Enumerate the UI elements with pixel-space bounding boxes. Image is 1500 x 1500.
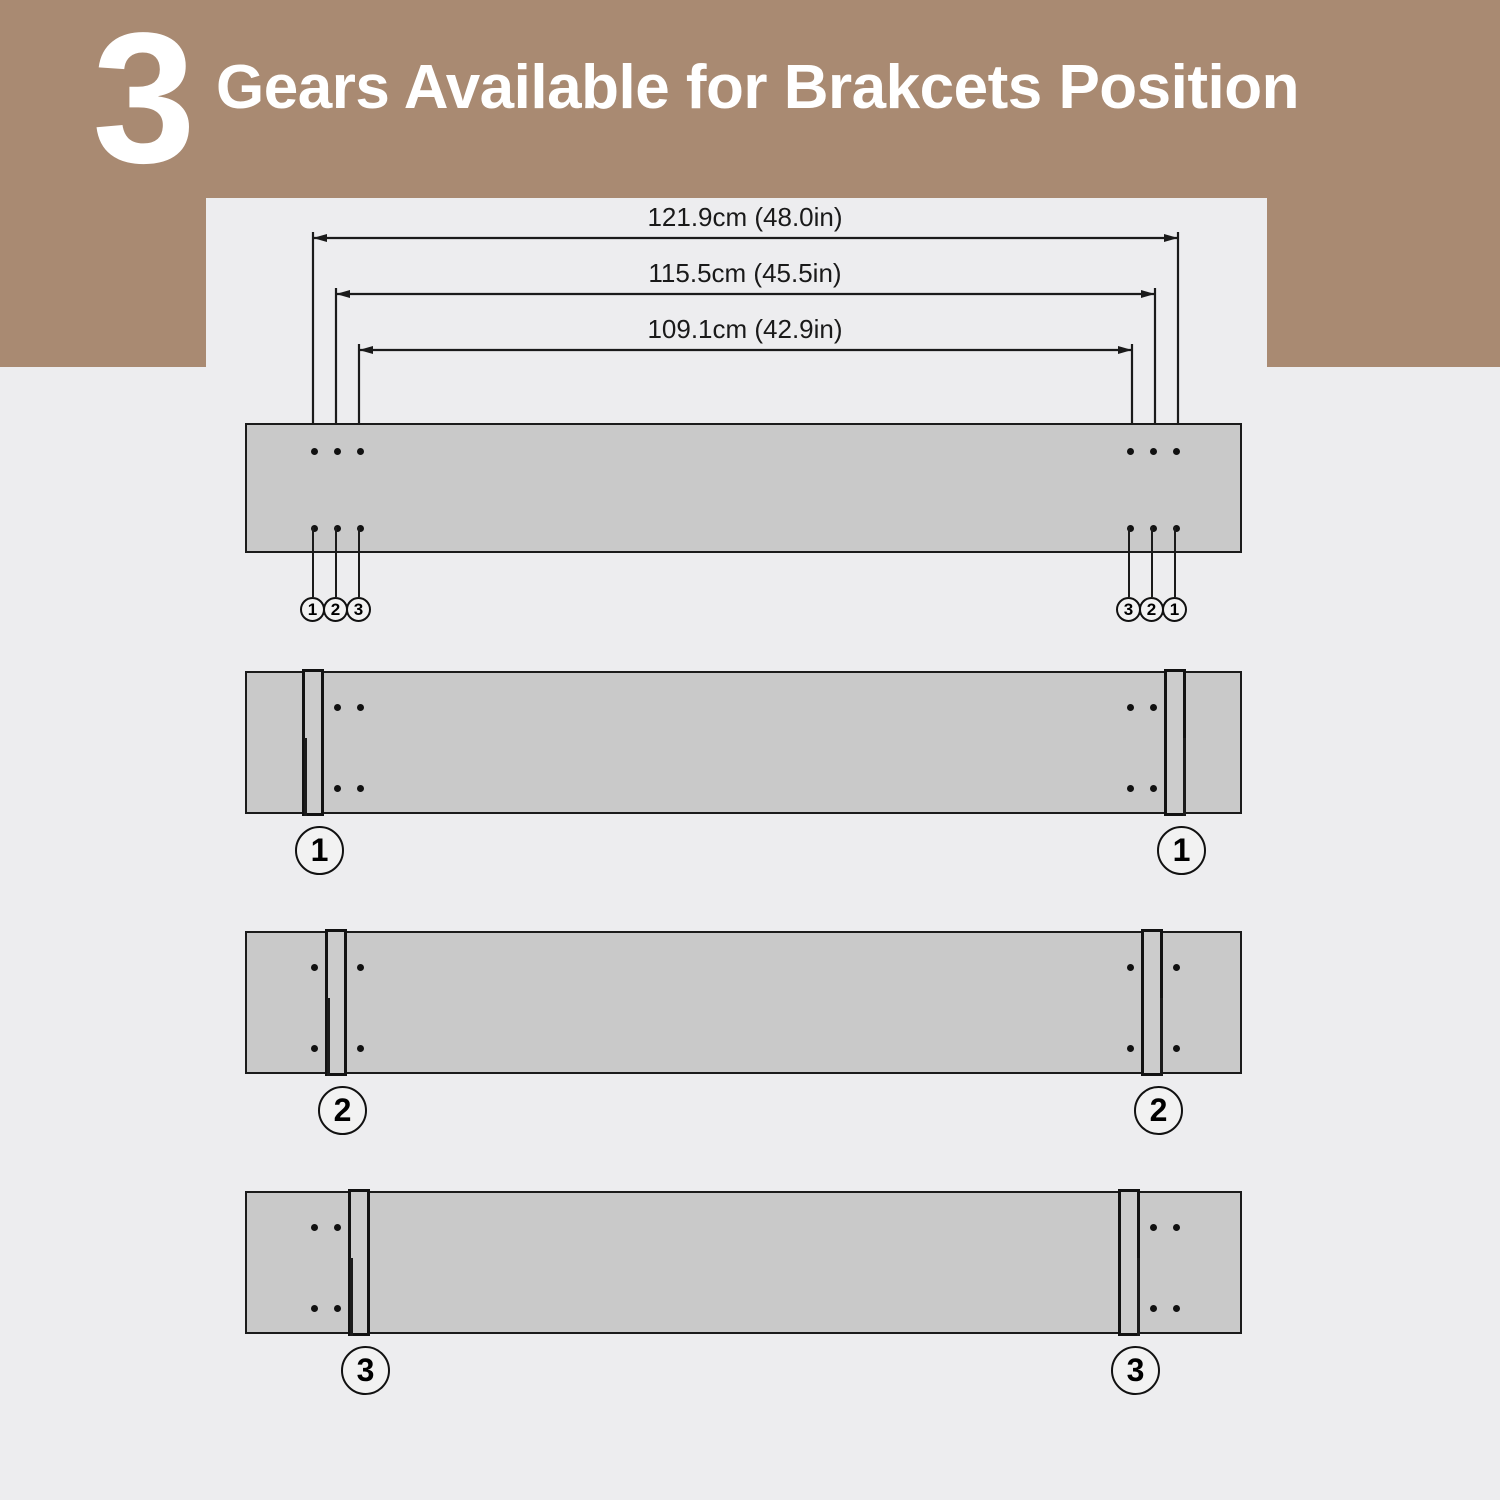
leader-left-1 <box>312 527 314 597</box>
leader-left-3 <box>358 527 360 597</box>
hole-bottom-right-2 <box>1150 1305 1157 1312</box>
dimension-label-3: 109.1cm (42.9in) <box>445 314 1045 345</box>
callout-gear-1-right: 1 <box>1157 826 1206 875</box>
hole-bottom-left-1 <box>311 1305 318 1312</box>
leader-right-1 <box>1174 527 1176 597</box>
hole-top-right-1 <box>1173 1224 1180 1231</box>
bracket-right-seam-gear-1 <box>1183 738 1186 816</box>
callout-left-1: 1 <box>300 597 325 622</box>
hole-bottom-left-3 <box>357 1045 364 1052</box>
hole-top-right-1 <box>1173 964 1180 971</box>
leader-right-3 <box>1128 527 1130 597</box>
hole-top-right-3 <box>1127 704 1134 711</box>
hole-bottom-left-2 <box>334 785 341 792</box>
hole-top-left-1 <box>311 964 318 971</box>
board-gear-3 <box>245 1191 1242 1334</box>
hole-bottom-right-1 <box>1173 1045 1180 1052</box>
dimension-label-1: 121.9cm (48.0in) <box>445 202 1045 233</box>
callout-left-3: 3 <box>346 597 371 622</box>
hole-top-right-3 <box>1127 448 1134 455</box>
hole-top-left-1 <box>311 1224 318 1231</box>
board-gear-1 <box>245 671 1242 814</box>
bracket-right-seam-gear-2 <box>1160 998 1163 1076</box>
callout-right-3: 3 <box>1116 597 1141 622</box>
hole-bottom-right-3 <box>1127 785 1134 792</box>
hole-bottom-right-2 <box>1150 785 1157 792</box>
bracket-left-seam-gear-3 <box>350 1258 353 1336</box>
bracket-right-seam-gear-3 <box>1137 1258 1140 1336</box>
callout-gear-2-left: 2 <box>318 1086 367 1135</box>
hole-top-right-1 <box>1173 448 1180 455</box>
hole-top-left-1 <box>311 448 318 455</box>
diagram-page: 3 Gears Available for Brakcets Position <box>0 0 1500 1500</box>
hole-top-right-2 <box>1150 448 1157 455</box>
hole-top-left-3 <box>357 964 364 971</box>
callout-gear-2-right: 2 <box>1134 1086 1183 1135</box>
hole-bottom-right-1 <box>1173 1305 1180 1312</box>
hole-bottom-left-3 <box>357 785 364 792</box>
leader-right-2 <box>1151 527 1153 597</box>
bracket-left-seam-gear-1 <box>304 738 307 816</box>
board-overview <box>245 423 1242 553</box>
hole-top-left-3 <box>357 704 364 711</box>
callout-left-2: 2 <box>323 597 348 622</box>
hole-bottom-left-2 <box>334 1305 341 1312</box>
callout-gear-3-right: 3 <box>1111 1346 1160 1395</box>
dimension-label-2: 115.5cm (45.5in) <box>445 258 1045 289</box>
callout-right-1: 1 <box>1162 597 1187 622</box>
hole-bottom-left-1 <box>311 1045 318 1052</box>
hole-top-left-2 <box>334 1224 341 1231</box>
hole-top-left-2 <box>334 448 341 455</box>
callout-gear-1-left: 1 <box>295 826 344 875</box>
hole-top-left-2 <box>334 704 341 711</box>
hole-top-right-3 <box>1127 964 1134 971</box>
hole-top-right-2 <box>1150 1224 1157 1231</box>
callout-gear-3-left: 3 <box>341 1346 390 1395</box>
leader-left-2 <box>335 527 337 597</box>
hole-top-right-2 <box>1150 704 1157 711</box>
bracket-left-seam-gear-2 <box>327 998 330 1076</box>
hole-top-left-3 <box>357 448 364 455</box>
board-gear-2 <box>245 931 1242 1074</box>
callout-right-2: 2 <box>1139 597 1164 622</box>
hole-bottom-right-3 <box>1127 1045 1134 1052</box>
